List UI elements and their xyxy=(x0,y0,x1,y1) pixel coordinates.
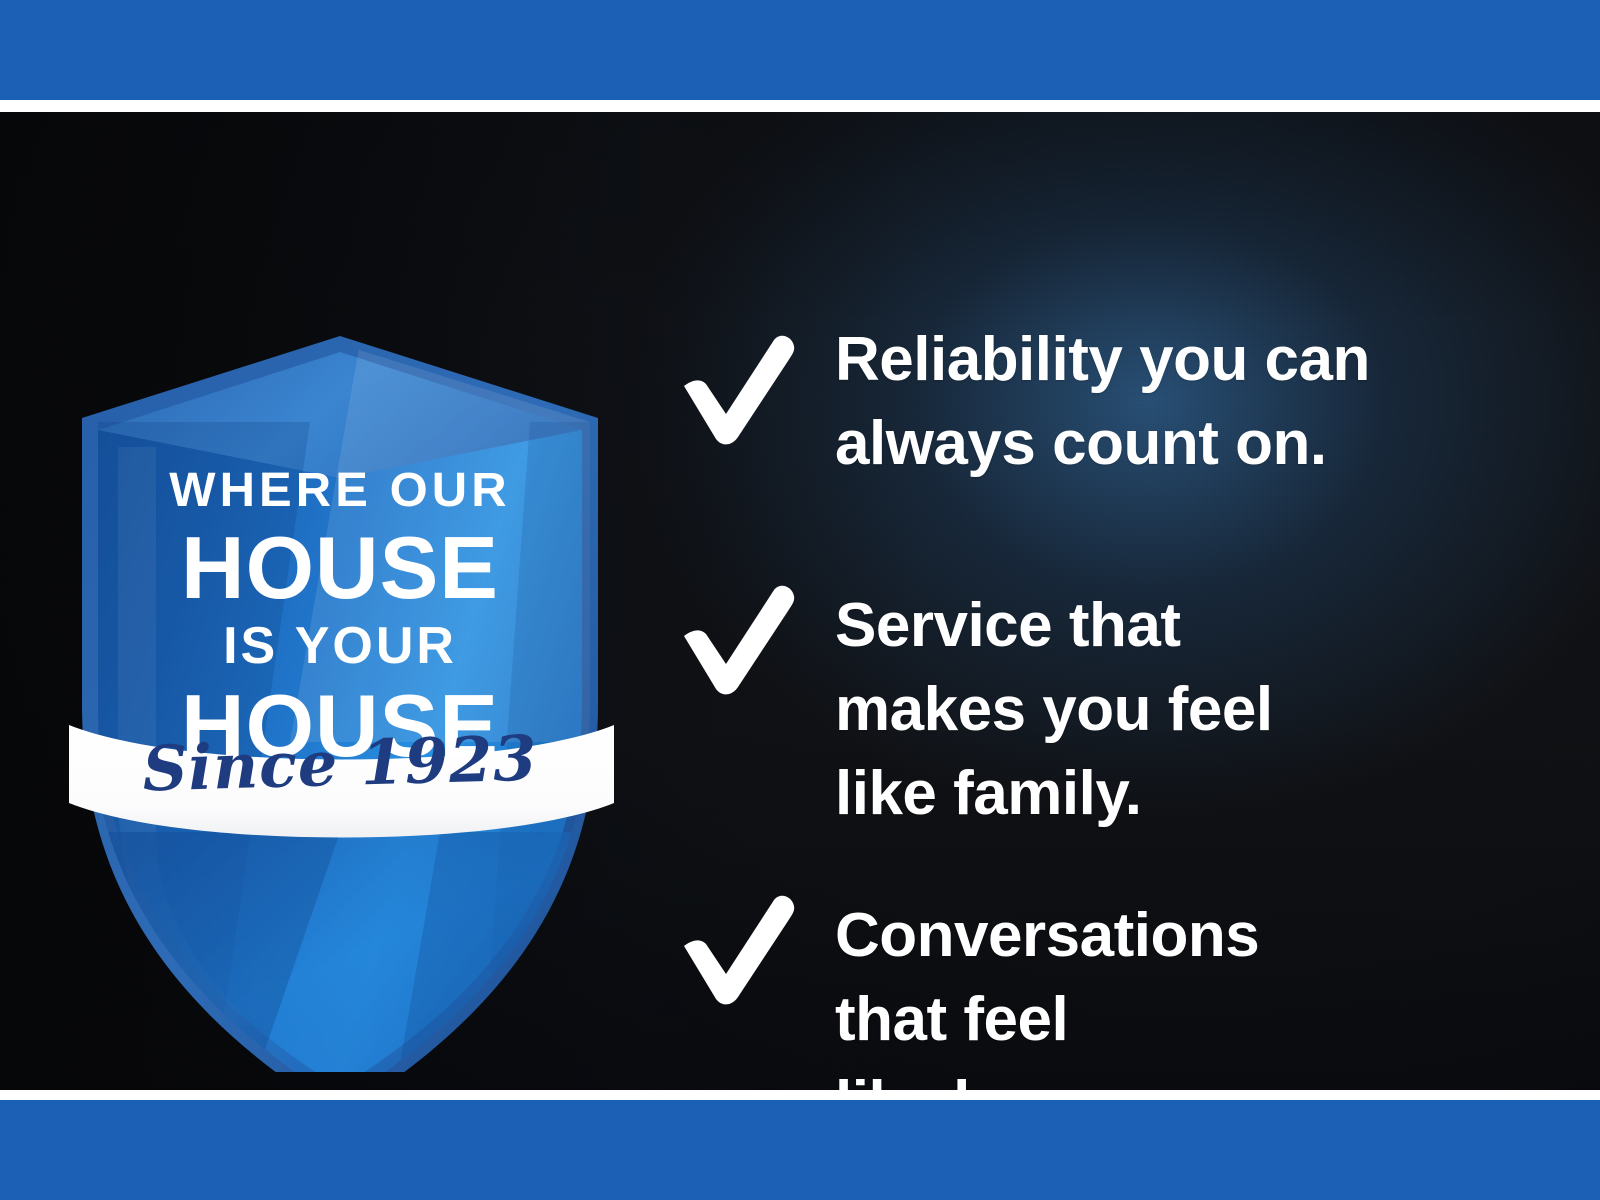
checkmark-icon xyxy=(670,574,800,704)
shield-line-where: WHERE OUR xyxy=(54,467,625,515)
benefits-list: Reliability you can always count on. Ser… xyxy=(660,224,1540,1090)
benefit-text: Service that makes you feel like family. xyxy=(835,584,1535,836)
shield-badge: WHERE OUR HOUSE IS YOUR HOUSE Since 1923 xyxy=(60,272,620,1072)
main-stage: WHERE OUR HOUSE IS YOUR HOUSE Since 1923… xyxy=(0,112,1600,1090)
top-brand-bar xyxy=(0,0,1600,100)
shield-line-isyour: IS YOUR xyxy=(60,620,620,672)
benefit-text: Reliability you can always count on. xyxy=(835,318,1535,486)
checkmark-icon xyxy=(670,884,800,1014)
shield-line-house-1: HOUSE xyxy=(60,524,620,612)
bottom-brand-bar xyxy=(0,1100,1600,1200)
benefit-text: Conversations that feel like home. xyxy=(835,894,1535,1090)
shield-copy: WHERE OUR HOUSE IS YOUR HOUSE xyxy=(60,272,620,1072)
checkmark-icon xyxy=(670,324,800,454)
ribbon-since-text: Since 1923 xyxy=(59,719,621,808)
promo-poster: WHERE OUR HOUSE IS YOUR HOUSE Since 1923… xyxy=(0,0,1600,1200)
